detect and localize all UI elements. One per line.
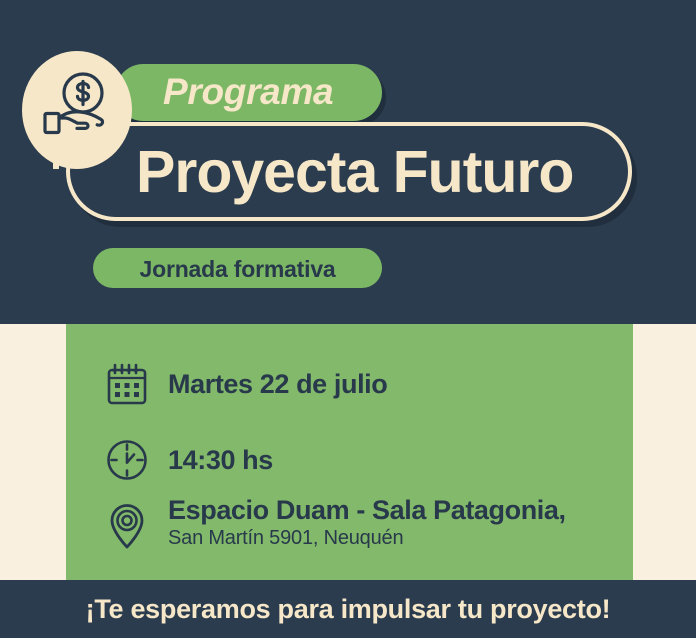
detail-row-date: Martes 22 de julio bbox=[102, 358, 387, 410]
event-venue: Espacio Duam - Sala Patagonia, bbox=[168, 496, 566, 524]
logo-badge bbox=[22, 51, 132, 173]
calendar-icon bbox=[102, 358, 152, 410]
details-panel: Martes 22 de julio 14:30 hs bbox=[66, 324, 633, 580]
subtitle-badge: Jornada formativa bbox=[93, 248, 382, 288]
event-flyer: Programa Proyecta Futuro Jornada formati… bbox=[0, 0, 696, 638]
location-pin-icon bbox=[102, 500, 152, 552]
detail-texts-time: 14:30 hs bbox=[168, 446, 273, 474]
call-to-action-text: ¡Te esperamos para impulsar tu proyecto! bbox=[86, 594, 611, 625]
flyer-header: Programa Proyecta Futuro Jornada formati… bbox=[0, 0, 696, 324]
event-time: 14:30 hs bbox=[168, 446, 273, 474]
detail-row-location: Espacio Duam - Sala Patagonia, San Martí… bbox=[102, 496, 566, 552]
title-pill: Proyecta Futuro bbox=[66, 122, 632, 221]
hand-holding-coin-icon bbox=[22, 51, 132, 169]
flyer-footer: ¡Te esperamos para impulsar tu proyecto! bbox=[0, 580, 696, 638]
page-title: Proyecta Futuro bbox=[136, 138, 573, 206]
program-badge: Programa bbox=[115, 64, 382, 121]
clock-icon bbox=[102, 434, 152, 486]
detail-texts-date: Martes 22 de julio bbox=[168, 370, 387, 398]
event-date: Martes 22 de julio bbox=[168, 370, 387, 398]
details-section: Martes 22 de julio 14:30 hs bbox=[0, 324, 696, 580]
event-address: San Martín 5901, Neuquén bbox=[168, 526, 566, 551]
program-label: Programa bbox=[163, 71, 333, 113]
detail-row-time: 14:30 hs bbox=[102, 434, 273, 486]
subtitle-label: Jornada formativa bbox=[93, 256, 382, 283]
detail-texts-location: Espacio Duam - Sala Patagonia, San Martí… bbox=[168, 496, 566, 551]
